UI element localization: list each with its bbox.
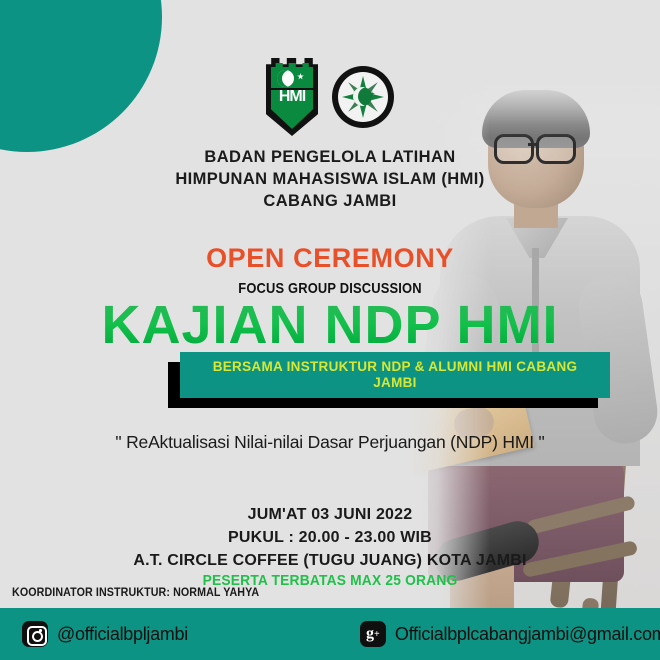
- event-date: JUM'AT 03 JUNI 2022: [0, 503, 660, 526]
- coordinator-note: KOORDINATOR INSTRUKTUR: NORMAL YAHYA: [12, 587, 259, 599]
- event-venue: A.T. CIRCLE COFFEE (TUGU JUANG) KOTA JAM…: [0, 549, 660, 572]
- banner-speakers: BERSAMA INSTRUKTUR NDP & ALUMNI HMI CABA…: [180, 352, 610, 398]
- org-line-1: BADAN PENGELOLA LATIHAN: [0, 146, 660, 168]
- org-line-2: HIMPUNAN MAHASISWA ISLAM (HMI): [0, 168, 660, 190]
- contact-footer: @officialbpljambi g+ Officialbplcabangja…: [0, 608, 660, 660]
- google-plus-icon: g+: [360, 621, 386, 647]
- crescent-icon: [277, 70, 294, 87]
- banner-text: BERSAMA INSTRUKTUR NDP & ALUMNI HMI CABA…: [190, 359, 600, 391]
- instagram-handle: @officialbpljambi: [57, 624, 188, 645]
- hmi-shield-logo: HMI: [266, 58, 318, 136]
- open-ceremony-label: OPEN CEREMONY: [0, 243, 660, 274]
- email-handle: Officialbplcabangjambi@gmail.com: [395, 624, 660, 645]
- page-title: KAJIAN NDP HMI: [0, 296, 660, 354]
- organization-header: BADAN PENGELOLA LATIHAN HIMPUNAN MAHASIS…: [0, 146, 660, 212]
- event-details: JUM'AT 03 JUNI 2022 PUKUL : 20.00 - 23.0…: [0, 503, 660, 572]
- bpl-circle-logo: [332, 66, 394, 128]
- googleplus-contact[interactable]: g+ Officialbplcabangjambi@gmail.com: [360, 621, 660, 647]
- event-theme-quote: " ReAktualisasi Nilai-nilai Dasar Perjua…: [0, 432, 660, 453]
- org-line-3: CABANG JAMBI: [0, 190, 660, 212]
- hmi-logo-letters: HMI: [266, 89, 318, 104]
- poster-canvas: HMI BADAN PENGELOLA LATIHAN HIMPUNAN MAH…: [0, 0, 660, 660]
- event-time: PUKUL : 20.00 - 23.00 WIB: [0, 526, 660, 549]
- instagram-icon: [22, 621, 48, 647]
- instagram-contact[interactable]: @officialbpljambi: [22, 621, 188, 647]
- logo-row: HMI: [0, 58, 660, 136]
